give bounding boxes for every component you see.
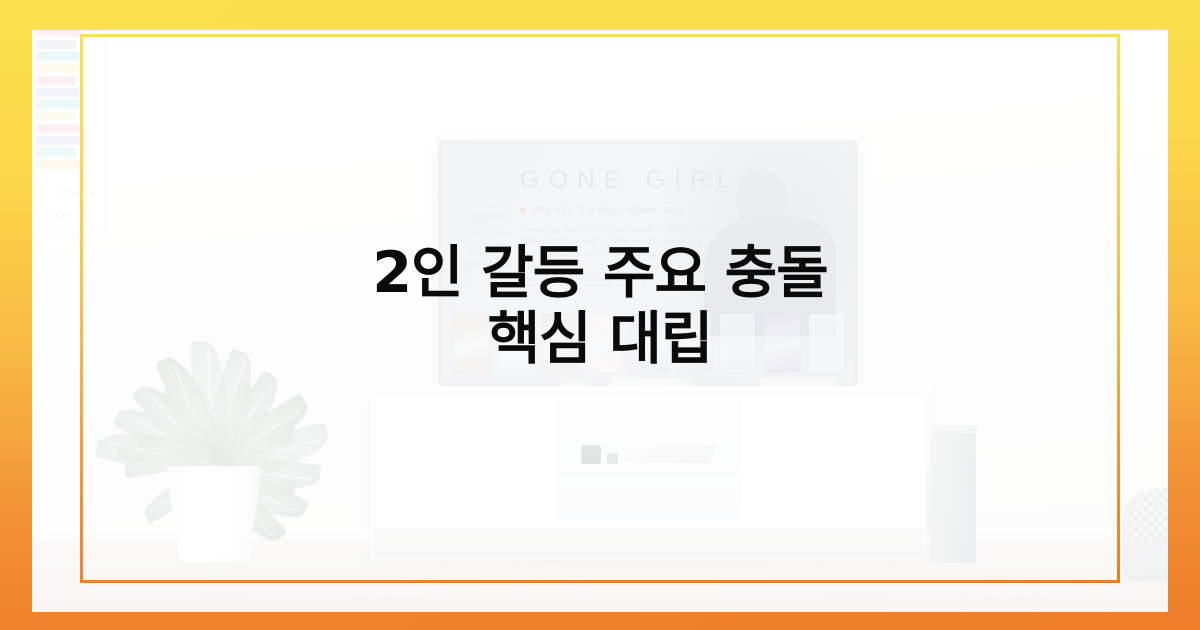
wall-art-stripe [36, 28, 82, 37]
wall-art-stripes [36, 10, 90, 176]
shelf-device-flat [624, 445, 715, 463]
tv-genre: Drama [630, 206, 656, 215]
tv-poster-thumbnail[interactable] [676, 314, 711, 372]
credit-name-starring: Ben Affleck Rosamund Pike Neil Patrick H… [462, 242, 510, 268]
tv-stand-top [367, 386, 931, 395]
tv-stand [370, 392, 926, 560]
wall-art-stripe [36, 40, 76, 49]
tv-stand-plinth [374, 528, 924, 558]
tv-screen: GONE GIRL 88% 17+ 2 hr 29 min Drama 2014… [442, 144, 854, 382]
tv-action-button[interactable]: HBO [616, 272, 645, 286]
background-photo: GONE GIRL 88% 17+ 2 hr 29 min Drama 2014… [0, 0, 1200, 630]
wall-art-stripe [36, 76, 76, 85]
credit-role-director: DIRECTOR [456, 202, 510, 212]
tv-action-button[interactable]: Available On [520, 272, 570, 286]
tv-credits: DIRECTOR David Fincher STARRING Ben Affl… [456, 202, 510, 270]
tv-poster-thumbnail[interactable] [720, 314, 755, 372]
wall-art-stripe [36, 112, 76, 121]
thumbnail-canvas: GONE GIRL 88% 17+ 2 hr 29 min Drama 2014… [0, 0, 1200, 630]
wall-art-signature [56, 190, 96, 197]
credit-role-starring: STARRING [456, 230, 510, 240]
wall-art-stripe [36, 10, 76, 13]
wall-art-stripe [36, 136, 82, 145]
potted-plant [62, 258, 352, 558]
shelf-device-mini [607, 453, 618, 464]
tv-runtime: 2 hr 29 min [579, 206, 623, 215]
wall-art-frame [28, 10, 106, 232]
tv-year: 2014 [663, 206, 682, 215]
tv-action-button[interactable]: iTunes [576, 272, 610, 286]
tv-poster-row[interactable] [454, 314, 844, 372]
wall-art-stripe [36, 52, 79, 61]
score-dot-icon [520, 208, 526, 214]
plant-pot [166, 466, 262, 562]
tv-poster-thumbnail[interactable] [454, 314, 489, 372]
tv-score: 88% [533, 206, 550, 215]
wall-art-stripe [36, 160, 79, 169]
tv-poster-thumbnail[interactable] [587, 314, 622, 372]
tv-poster-thumbnail[interactable] [498, 314, 533, 372]
wall-art-stripe [36, 148, 76, 157]
tv-stand-shelf [556, 463, 741, 472]
wall-art-stripe [36, 16, 79, 25]
tv-poster-thumbnail[interactable] [543, 314, 578, 372]
television: GONE GIRL 88% 17+ 2 hr 29 min Drama 2014… [438, 140, 858, 386]
floor-speaker [930, 433, 976, 563]
tv-poster-thumbnail[interactable] [631, 314, 666, 372]
wall-art-stripe [36, 124, 79, 133]
tv-rating: 17+ [557, 206, 572, 215]
tv-poster-thumbnail[interactable] [764, 314, 799, 372]
wall-art-stripe [36, 100, 82, 109]
credit-name-director: David Fincher [473, 214, 510, 220]
shelf-device-box [581, 445, 601, 464]
tv-description: Directed by David Fincher and based on G… [520, 224, 720, 272]
wall-art-stripe [36, 64, 82, 73]
tv-poster-thumbnail[interactable] [809, 314, 844, 372]
tv-app-title: GONE GIRL [520, 166, 740, 195]
wall-art-stripe [36, 88, 79, 97]
wall-art-caption [38, 214, 82, 220]
tv-meta-row: 88% 17+ 2 hr 29 min Drama 2014 [520, 206, 683, 215]
tv-action-buttons[interactable]: Available OniTunesHBO [520, 272, 645, 286]
